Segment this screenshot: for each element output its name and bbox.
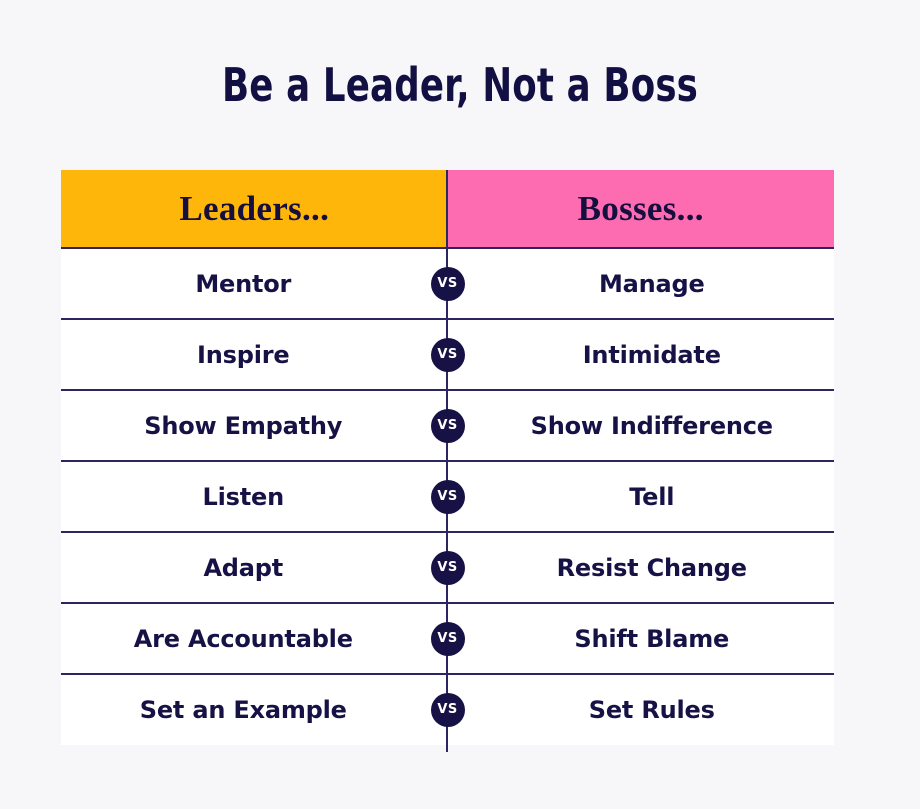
leader-trait-cell: Mentor bbox=[61, 249, 448, 318]
boss-trait-cell: Intimidate bbox=[448, 320, 835, 389]
leader-trait-cell: Listen bbox=[61, 462, 448, 531]
boss-trait-cell: Set Rules bbox=[448, 675, 835, 744]
leader-trait-cell: Are Accountable bbox=[61, 604, 448, 673]
boss-trait-cell: Shift Blame bbox=[448, 604, 835, 673]
vs-badge: vs bbox=[431, 551, 465, 585]
column-header-bosses: Bosses... bbox=[448, 170, 835, 247]
column-header-leaders: Leaders... bbox=[61, 170, 448, 247]
boss-trait-cell: Resist Change bbox=[448, 533, 835, 602]
vs-badge: vs bbox=[431, 409, 465, 443]
page-title: Be a Leader, Not a Boss bbox=[64, 60, 855, 111]
vs-badge: vs bbox=[431, 480, 465, 514]
boss-trait-cell: Tell bbox=[448, 462, 835, 531]
vs-badge: vs bbox=[431, 338, 465, 372]
boss-trait-cell: Show Indifference bbox=[448, 391, 835, 460]
vs-badge: vs bbox=[431, 693, 465, 727]
leader-trait-cell: Show Empathy bbox=[61, 391, 448, 460]
leader-trait-cell: Inspire bbox=[61, 320, 448, 389]
vs-badge: vs bbox=[431, 267, 465, 301]
comparison-table: Leaders... Bosses... MentorManagevsInspi… bbox=[61, 170, 834, 745]
leader-trait-cell: Set an Example bbox=[61, 675, 448, 744]
infographic-canvas: Be a Leader, Not a Boss Leaders... Bosse… bbox=[0, 0, 920, 809]
vs-badge: vs bbox=[431, 622, 465, 656]
column-divider-rule bbox=[446, 170, 448, 752]
boss-trait-cell: Manage bbox=[448, 249, 835, 318]
leader-trait-cell: Adapt bbox=[61, 533, 448, 602]
